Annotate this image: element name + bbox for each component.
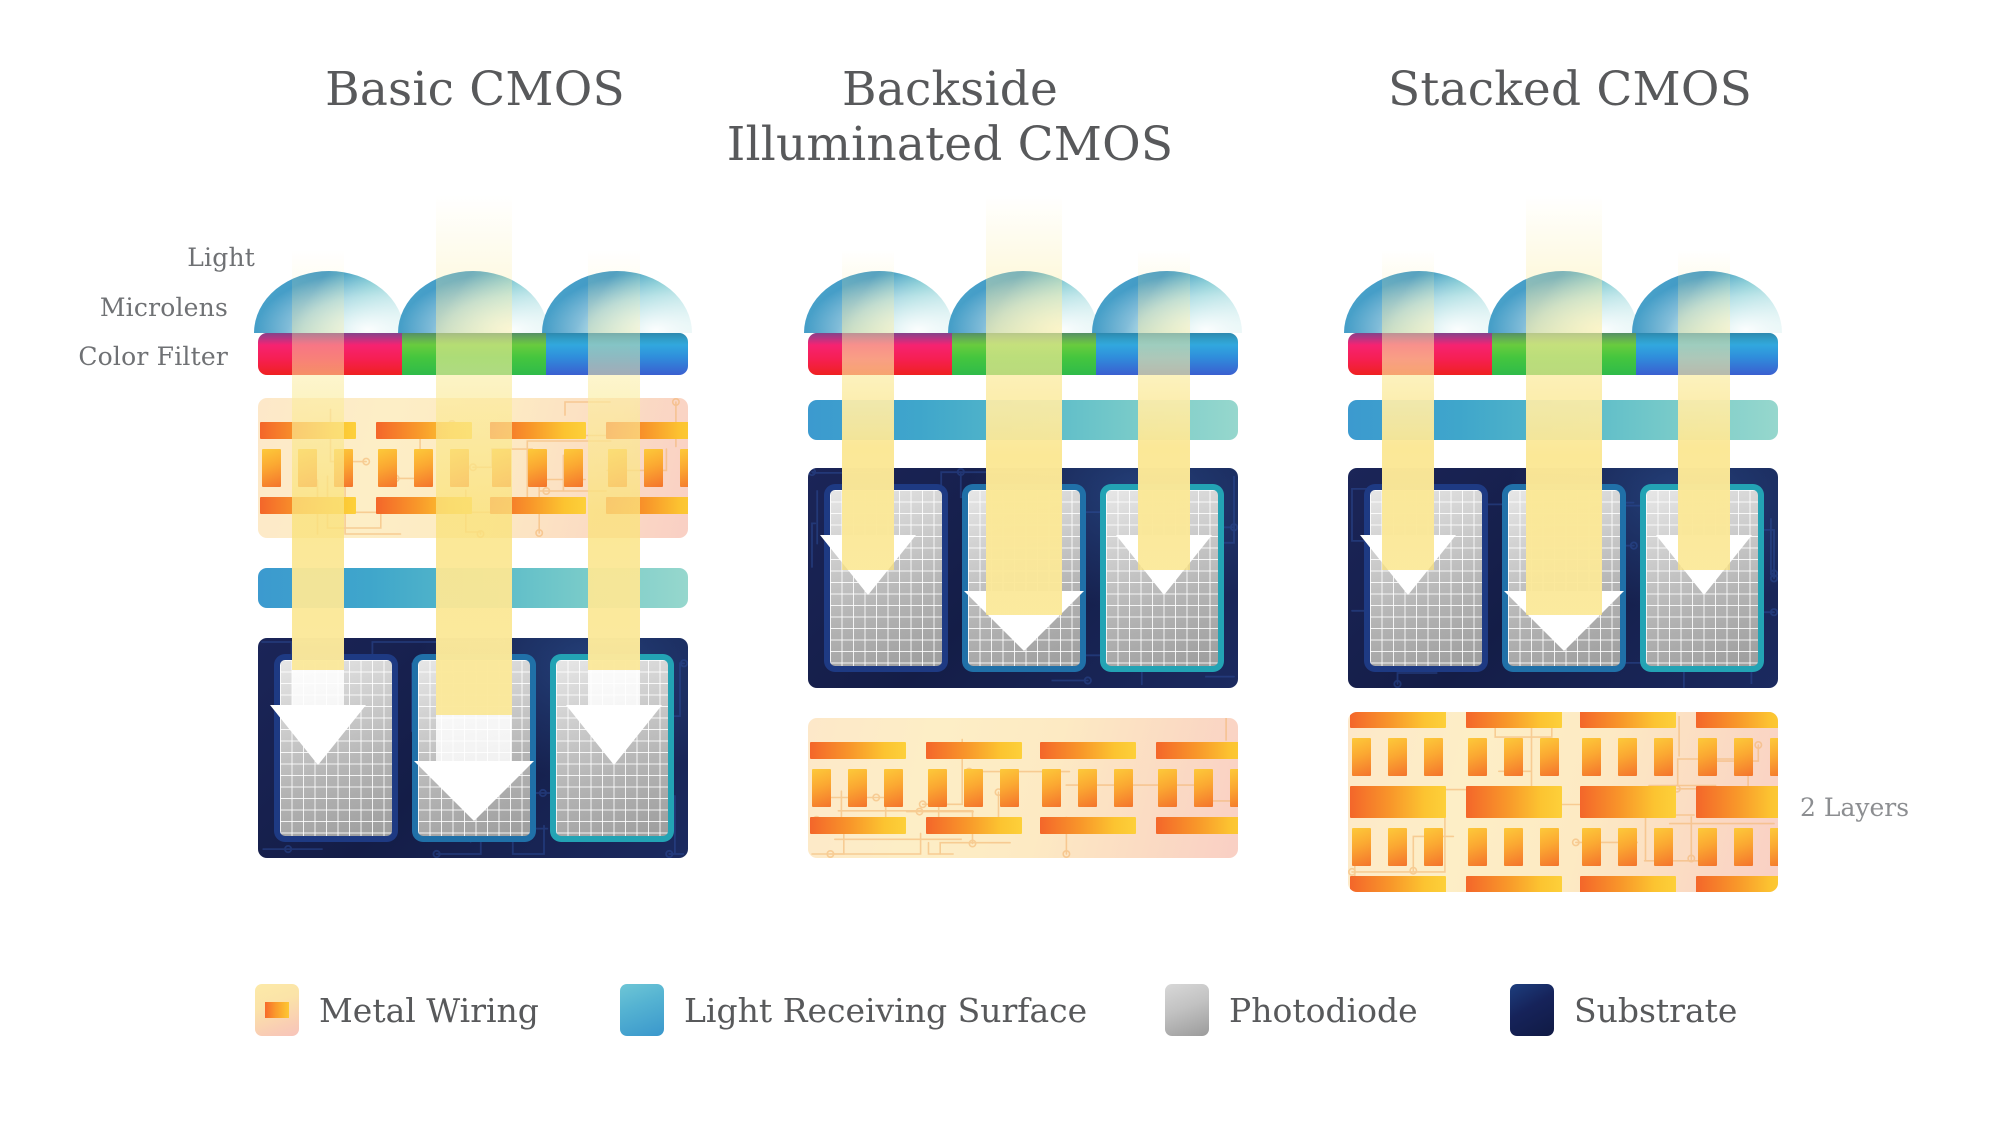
metal-wiring-bar (1156, 742, 1238, 759)
legend-label: Substrate (1574, 991, 1737, 1030)
metal-wiring-swatch-icon (255, 984, 299, 1036)
metal-wiring-bar (1696, 712, 1778, 728)
metal-wiring-module (1040, 742, 1136, 834)
metal-wiring-layer (808, 718, 1238, 858)
metal-wiring-module (1580, 801, 1676, 892)
metal-wiring-module (1696, 712, 1778, 803)
color-filter-layer (258, 333, 688, 375)
microlens-row (258, 271, 688, 333)
light-direction-arrow (566, 705, 662, 765)
metal-wiring-module (1466, 801, 1562, 892)
metal-wiring-via (1540, 738, 1559, 776)
light-receiving-surface-aperture (1382, 400, 1434, 440)
light-direction-arrow (820, 535, 916, 595)
metal-wiring-bar (1040, 817, 1136, 834)
side-label-microlens: Microlens (0, 293, 228, 322)
light-receiving-surface-swatch-icon (620, 984, 664, 1036)
metal-wiring-via (1582, 828, 1601, 866)
metal-wiring-bar (606, 497, 688, 514)
metal-wiring-via (1468, 738, 1487, 776)
metal-wiring-bar (926, 817, 1022, 834)
substrate-photodiode-layer (258, 638, 688, 858)
column-stacked-cmos (1348, 0, 1778, 1125)
light-direction-arrow (1360, 535, 1456, 595)
metal-wiring-via (812, 769, 831, 807)
metal-wiring-layer (1348, 712, 1778, 892)
column-basic-cmos (258, 0, 688, 1125)
light-receiving-surface-layer (1348, 400, 1778, 440)
metal-wiring-module (376, 422, 472, 514)
legend-item-light-receiving-surface: Light Receiving Surface (620, 975, 1087, 1045)
legend-item-substrate: Substrate (1510, 975, 1737, 1045)
legend-label: Metal Wiring (319, 991, 539, 1030)
microlens-dome (542, 271, 692, 333)
metal-wiring-module (1156, 742, 1238, 834)
metal-wiring-bar (376, 422, 472, 439)
metal-wiring-bar (810, 742, 906, 759)
metal-wiring-bar (1350, 712, 1446, 728)
metal-wiring-via (1158, 769, 1177, 807)
light-receiving-surface-aperture (1678, 400, 1730, 440)
light-receiving-surface-aperture (1526, 400, 1602, 440)
color-filter-layer (808, 333, 1238, 375)
metal-wiring-bar (490, 497, 586, 514)
metal-wiring-bar (810, 817, 906, 834)
light-receiving-surface-aperture (436, 568, 512, 608)
metal-wiring-via (1424, 738, 1443, 776)
metal-wiring-via (1734, 828, 1753, 866)
light-direction-arrow (1504, 591, 1624, 651)
metal-wiring-bar (376, 497, 472, 514)
light-direction-arrow (1116, 535, 1212, 595)
color-filter-top-shade (258, 333, 688, 345)
metal-wiring-via (1540, 828, 1559, 866)
substrate-swatch-icon (1510, 984, 1554, 1036)
photodiode-swatch-icon (1165, 984, 1209, 1036)
metal-wiring-bar (1466, 876, 1562, 892)
light-receiving-surface-aperture (588, 568, 640, 608)
metal-wiring-via (492, 449, 511, 487)
legend-label: Photodiode (1229, 991, 1418, 1030)
substrate-photodiode-layer (1348, 468, 1778, 688)
metal-wiring-via (1468, 828, 1487, 866)
metal-wiring-bar (1156, 817, 1238, 834)
light-penetration-column (986, 468, 1062, 605)
substrate-photodiode-layer (808, 468, 1238, 688)
light-penetration-column (1526, 468, 1602, 605)
microlens-dome (1632, 271, 1782, 333)
legend-label: Light Receiving Surface (684, 991, 1087, 1030)
light-receiving-surface-aperture (986, 400, 1062, 440)
metal-wiring-bar (1696, 801, 1778, 818)
metal-wiring-via (1078, 769, 1097, 807)
metal-wiring-bar (490, 422, 586, 439)
metal-wiring-module (260, 422, 356, 514)
metal-wiring-via (848, 769, 867, 807)
stacked-layers-note: 2 Layers (1800, 793, 1909, 822)
color-filter-top-shade (1348, 333, 1778, 345)
metal-wiring-via (1698, 738, 1717, 776)
metal-wiring-via (1114, 769, 1133, 807)
metal-wiring-module (810, 742, 906, 834)
microlens-dome (1344, 271, 1494, 333)
metal-wiring-via (1000, 769, 1019, 807)
metal-wiring-via (1734, 738, 1753, 776)
microlens-dome (254, 271, 404, 333)
legend-item-metal-wiring: Metal Wiring (255, 975, 539, 1045)
microlens-row (1348, 271, 1778, 333)
metal-wiring-bar (1696, 876, 1778, 892)
light-receiving-surface-layer (258, 568, 688, 608)
metal-wiring-bar (1580, 801, 1676, 818)
metal-wiring-bar (1466, 801, 1562, 818)
metal-wiring-via (1770, 738, 1778, 776)
metal-wiring-layer (258, 398, 688, 538)
light-direction-arrow (964, 591, 1084, 651)
metal-wiring-via (1352, 828, 1371, 866)
metal-wiring-via (1618, 738, 1637, 776)
metal-wiring-via (644, 449, 663, 487)
microlens-dome (398, 271, 548, 333)
microlens-dome (948, 271, 1098, 333)
light-penetration-column (436, 638, 512, 775)
side-label-light: Light (0, 243, 255, 272)
metal-wiring-via (608, 449, 627, 487)
legend: Metal Wiring Light Receiving Surface Pho… (0, 975, 2000, 1055)
metal-wiring-bar (926, 742, 1022, 759)
metal-wiring-bar (1040, 742, 1136, 759)
metal-wiring-via (334, 449, 353, 487)
metal-wiring-via (1618, 828, 1637, 866)
metal-wiring-via (1504, 828, 1523, 866)
microlens-row (808, 271, 1238, 333)
light-receiving-surface-aperture (292, 568, 344, 608)
metal-wiring-via (1352, 738, 1371, 776)
metal-wiring-via (1654, 738, 1673, 776)
column-backside-illuminated-cmos (808, 0, 1238, 1125)
metal-wiring-via (528, 449, 547, 487)
color-filter-top-shade (808, 333, 1238, 345)
side-label-color-filter: Color Filter (0, 342, 228, 371)
metal-wiring-bar (1580, 712, 1676, 728)
light-receiving-surface-aperture (1138, 400, 1190, 440)
metal-wiring-via (1042, 769, 1061, 807)
metal-wiring-module (490, 422, 586, 514)
metal-wiring-bar (260, 497, 356, 514)
metal-wiring-bar (1350, 801, 1446, 818)
metal-wiring-via (1230, 769, 1238, 807)
microlens-dome (1092, 271, 1242, 333)
metal-wiring-module (1466, 712, 1562, 803)
metal-wiring-module (1580, 712, 1676, 803)
metal-wiring-via (928, 769, 947, 807)
metal-wiring-bar (1580, 876, 1676, 892)
metal-wiring-via (450, 449, 469, 487)
metal-wiring-via (1698, 828, 1717, 866)
light-direction-arrow (414, 761, 534, 821)
metal-wiring-bar (606, 422, 688, 439)
metal-wiring-via (564, 449, 583, 487)
metal-wiring-via (1770, 828, 1778, 866)
metal-wiring-via (964, 769, 983, 807)
diagram-canvas: Basic CMOS Backside Illuminated CMOS Sta… (0, 0, 2000, 1125)
metal-wiring-via (884, 769, 903, 807)
metal-wiring-module (1350, 712, 1446, 803)
microlens-dome (1488, 271, 1638, 333)
light-receiving-surface-layer (808, 400, 1238, 440)
metal-wiring-via (1582, 738, 1601, 776)
light-receiving-surface-aperture (842, 400, 894, 440)
metal-wiring-via (1388, 738, 1407, 776)
metal-wiring-module (1696, 801, 1778, 892)
microlens-dome (804, 271, 954, 333)
legend-item-photodiode: Photodiode (1165, 975, 1418, 1045)
color-filter-layer (1348, 333, 1778, 375)
light-direction-arrow (1656, 535, 1752, 595)
metal-wiring-bar (1466, 712, 1562, 728)
metal-wiring-via (1388, 828, 1407, 866)
metal-wiring-via (680, 449, 688, 487)
metal-wiring-bar (1350, 876, 1446, 892)
metal-wiring-via (1504, 738, 1523, 776)
metal-wiring-via (1424, 828, 1443, 866)
light-direction-arrow (270, 705, 366, 765)
metal-wiring-via (1654, 828, 1673, 866)
metal-wiring-via (298, 449, 317, 487)
metal-wiring-bar (260, 422, 356, 439)
metal-wiring-via (378, 449, 397, 487)
metal-wiring-module (606, 422, 688, 514)
metal-wiring-via (414, 449, 433, 487)
metal-wiring-module (926, 742, 1022, 834)
metal-wiring-module (1350, 801, 1446, 892)
metal-wiring-via (262, 449, 281, 487)
metal-wiring-via (1194, 769, 1213, 807)
